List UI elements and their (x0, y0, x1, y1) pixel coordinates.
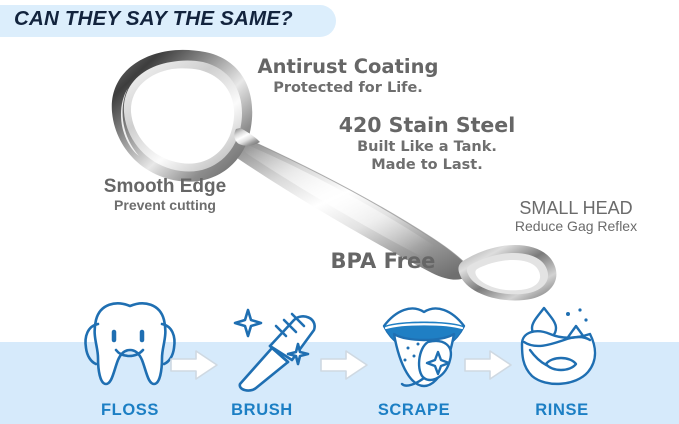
infographic-page: CAN THEY SAY THE SAME? (0, 0, 679, 424)
feature-subtext: Protected for Life. (228, 80, 468, 96)
step-icon-brush (226, 296, 330, 392)
feature-antirust-coating: Antirust Coating Protected for Life. (228, 56, 468, 96)
product-small-head (458, 245, 556, 300)
arrow-right-icon (318, 348, 370, 382)
feature-subtext: Prevent cutting (80, 198, 250, 214)
step-label-rinse: RINSE (522, 401, 602, 420)
step-icon-floss (78, 296, 182, 392)
feature-heading: Antirust Coating (228, 56, 468, 78)
feature-heading: 420 Stain Steel (322, 114, 532, 137)
feature-small-head: SMALL HEAD Reduce Gag Reflex (496, 198, 656, 235)
feature-heading: BPA Free (308, 250, 458, 274)
feature-heading: Smooth Edge (80, 176, 250, 197)
step-label-floss: FLOSS (90, 401, 170, 420)
arrow-right-icon (168, 348, 220, 382)
step-icon-rinse (512, 298, 616, 392)
arrow-right-icon (462, 348, 514, 382)
feature-subtext: Built Like a Tank. (322, 139, 532, 155)
page-title: CAN THEY SAY THE SAME? (14, 7, 344, 31)
step-icon-scrape (372, 298, 476, 392)
step-label-brush: BRUSH (222, 401, 302, 420)
feature-heading: SMALL HEAD (496, 198, 656, 218)
feature-bpa-free: BPA Free (308, 250, 458, 274)
feature-subtext-2: Made to Last. (322, 157, 532, 173)
feature-subtext: Reduce Gag Reflex (496, 219, 656, 235)
feature-420-stain-steel: 420 Stain Steel Built Like a Tank. Made … (322, 114, 532, 173)
step-label-scrape: SCRAPE (374, 401, 454, 420)
feature-smooth-edge: Smooth Edge Prevent cutting (80, 176, 250, 214)
